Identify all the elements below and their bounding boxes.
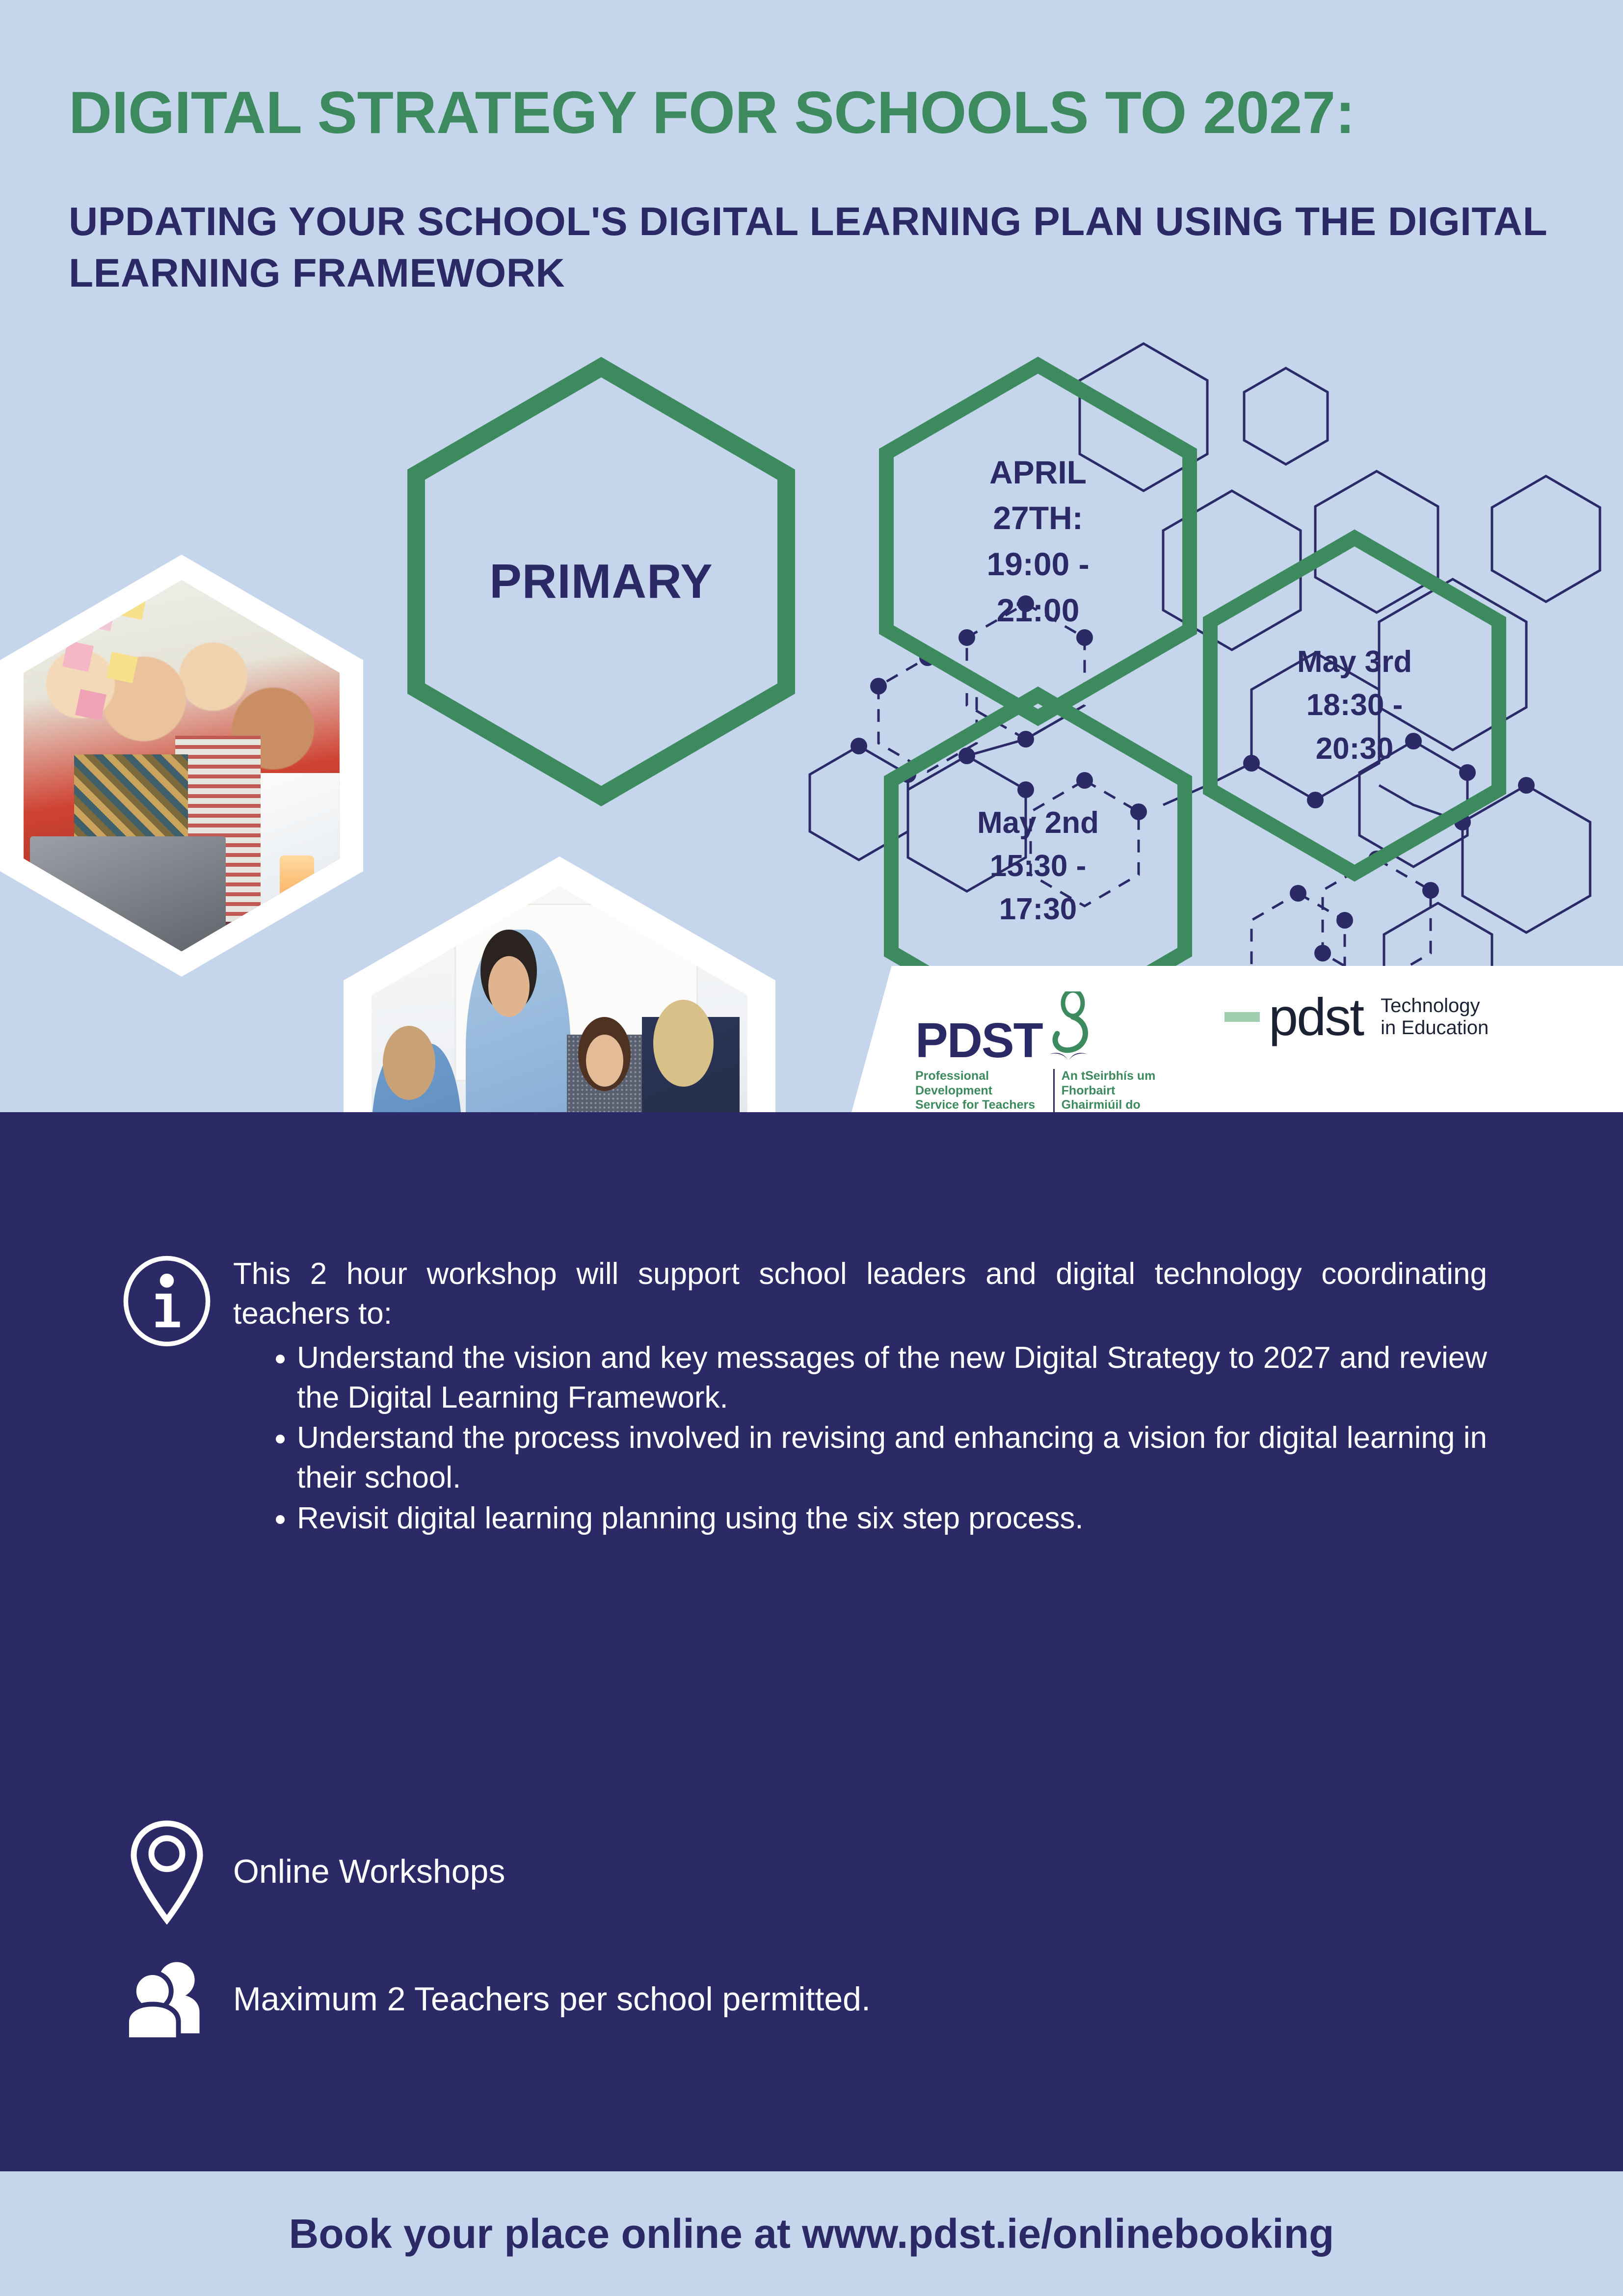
pdst-tagline: Professional Development Service for Tea… [915, 1069, 1190, 1112]
top-section: DIGITAL STRATEGY FOR SCHOOLS TO 2027: UP… [0, 0, 1623, 1112]
list-item: Understand the vision and key messages o… [297, 1338, 1487, 1417]
capacity-label: Maximum 2 Teachers per school permitted. [233, 1981, 871, 2018]
photo-teachers-image [372, 886, 747, 1112]
hexagon-primary: PRIMARY [407, 358, 795, 805]
location-label: Online Workshops [233, 1853, 505, 1890]
pdst-tie-wordmark: pdst [1269, 993, 1363, 1041]
workshop-info-row: This 2 hour workshop will support school… [101, 1255, 1524, 1539]
pdst-tagline-en: Professional Development Service for Tea… [915, 1069, 1046, 1112]
logo-band: PDST Professional Development Service fo… [851, 966, 1623, 1112]
hexagon-session-may-3-label: May 3rd 18:30 - 20:30 [1202, 530, 1507, 881]
poster-root: DIGITAL STRATEGY FOR SCHOOLS TO 2027: UP… [0, 0, 1623, 2296]
pdst-wordmark: PDST [915, 1016, 1042, 1065]
hexagon-primary-label: PRIMARY [407, 358, 795, 805]
photo-teachers-hexagon [344, 856, 775, 1112]
pdst-figure-icon [1042, 991, 1095, 1065]
poster-subtitle: UPDATING YOUR SCHOOL'S DIGITAL LEARNING … [69, 196, 1600, 299]
photo-students-hexagon [0, 555, 363, 977]
tagline-divider [1053, 1069, 1055, 1112]
pdst-tie-dash-icon [1224, 1012, 1260, 1022]
workshop-info-text: This 2 hour workshop will support school… [233, 1255, 1487, 1539]
info-icon [101, 1255, 233, 1539]
location-row: Online Workshops [101, 1819, 1524, 1924]
workshop-objectives-list: Understand the vision and key messages o… [233, 1338, 1487, 1538]
pdst-logo: PDST Professional Development Service fo… [915, 991, 1190, 1090]
people-icon [101, 1959, 233, 2040]
hexagon-session-may-3: May 3rd 18:30 - 20:30 [1202, 530, 1507, 881]
details-section: This 2 hour workshop will support school… [0, 1112, 1623, 2171]
pdst-tie-sub-2: in Education [1381, 1017, 1489, 1039]
footer-bar: Book your place online at www.pdst.ie/on… [0, 2171, 1623, 2296]
hexagon-session-april-27: APRIL 27TH: 19:00 - 21:00 [878, 357, 1197, 725]
location-pin-icon [101, 1819, 233, 1924]
list-item: Understand the process involved in revis… [297, 1418, 1487, 1497]
capacity-row: Maximum 2 Teachers per school permitted. [101, 1959, 1524, 2040]
workshop-intro: This 2 hour workshop will support school… [233, 1255, 1487, 1334]
booking-link-text[interactable]: Book your place online at www.pdst.ie/on… [289, 2210, 1334, 2258]
pdst-tie-sub-1: Technology [1381, 995, 1489, 1017]
pdst-technology-in-education-logo: pdst Technology in Education [1224, 993, 1568, 1086]
hexagon-session-april-27-label: APRIL 27TH: 19:00 - 21:00 [878, 357, 1197, 725]
list-item: Revisit digital learning planning using … [297, 1499, 1487, 1539]
pdst-tagline-ga: An tSeirbhís um Fhorbairt Ghairmiúil do … [1062, 1069, 1190, 1112]
poster-title: DIGITAL STRATEGY FOR SCHOOLS TO 2027: [69, 81, 1561, 144]
